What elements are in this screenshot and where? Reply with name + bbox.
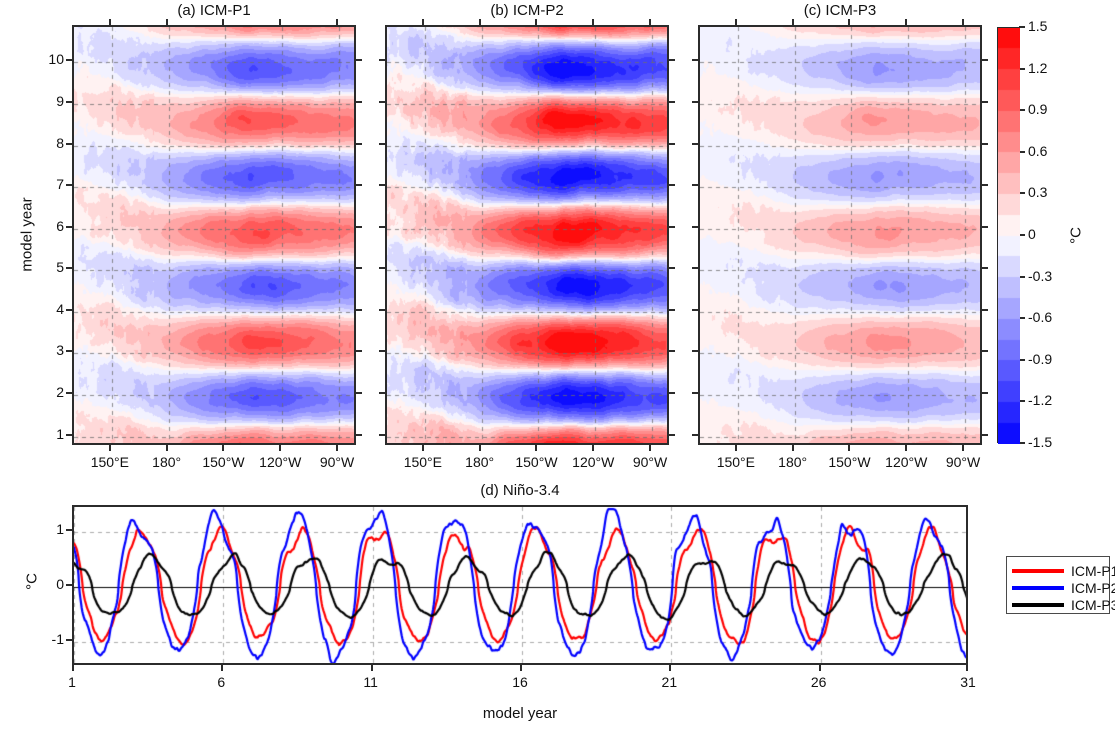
panel-b-ytick <box>379 434 385 436</box>
panel-b-xtick <box>592 19 594 25</box>
panel-b-ytick <box>379 184 385 186</box>
panel-b-ytick <box>379 350 385 352</box>
colorbar-tick-label: -0.3 <box>1028 268 1074 284</box>
panel-a-ytick <box>356 350 362 352</box>
hovmoller-ytick-label: 5 <box>22 259 64 275</box>
nino-ytick-label: -1 <box>24 631 64 647</box>
nino-xtick <box>819 665 821 671</box>
panel-a-xtick-label: 90°W <box>297 454 377 470</box>
legend-label-icm-p3: ICM-P3 <box>1071 597 1115 613</box>
panel-c-contour-canvas <box>700 27 982 445</box>
panel-b-xtick <box>422 445 424 451</box>
nino-xtick <box>669 665 671 671</box>
panel-c-ytick <box>692 392 698 394</box>
panel-b-title: (b) ICM-P2 <box>385 2 669 19</box>
panel-a-ytick <box>356 309 362 311</box>
panel-c-ytick <box>692 309 698 311</box>
panel-c-xtick <box>792 19 794 25</box>
panel-b-ytick <box>669 59 675 61</box>
panel-a-ytick <box>66 143 72 145</box>
panel-b-ytick <box>669 392 675 394</box>
panel-c-hovmoller <box>698 25 982 445</box>
colorbar-tick-label: 0.9 <box>1028 101 1074 117</box>
colorbar-tick-label: 0.3 <box>1028 184 1074 200</box>
panel-c-ytick <box>692 226 698 228</box>
nino-ytick-label: 1 <box>24 521 64 537</box>
hovmoller-ytick-label: 3 <box>22 342 64 358</box>
panel-a-ytick <box>66 101 72 103</box>
panel-b-ytick <box>379 101 385 103</box>
panel-c-ytick <box>982 59 988 61</box>
panel-a-ytick <box>66 226 72 228</box>
nino-xtick-label: 1 <box>32 674 112 690</box>
panel-c-ytick <box>982 184 988 186</box>
panel-c-xtick <box>792 445 794 451</box>
legend-swatch-icm-p1 <box>1012 569 1064 573</box>
panel-d-nino34-timeseries <box>72 505 968 665</box>
nino34-line-canvas <box>74 507 968 665</box>
panel-b-hovmoller <box>385 25 669 445</box>
panel-c-xtick <box>735 445 737 451</box>
legend-entry-icm-p3: ICM-P3 <box>1012 597 1115 613</box>
panel-a-xtick <box>222 445 224 451</box>
panel-b-ytick <box>379 309 385 311</box>
panel-c-ytick <box>982 143 988 145</box>
nino-xtick-label: 26 <box>779 674 859 690</box>
panel-a-ytick <box>356 184 362 186</box>
colorbar-tick-label: -0.6 <box>1028 309 1074 325</box>
panel-b-xtick <box>535 445 537 451</box>
panel-c-ytick <box>692 184 698 186</box>
panel-a-ytick <box>356 101 362 103</box>
panel-c-ytick <box>982 309 988 311</box>
nino-xlabel: model year <box>72 705 968 722</box>
nino-xtick <box>72 665 74 671</box>
legend-entry-icm-p1: ICM-P1 <box>1012 563 1115 579</box>
panel-a-hovmoller <box>72 25 356 445</box>
colorbar-tick-label: -0.9 <box>1028 351 1074 367</box>
panel-a-ytick <box>356 59 362 61</box>
panel-c-ytick <box>692 350 698 352</box>
panel-c-ytick <box>692 434 698 436</box>
panel-b-ytick <box>379 59 385 61</box>
panel-b-ytick <box>379 392 385 394</box>
panel-c-ytick <box>692 267 698 269</box>
hovmoller-ytick-label: 6 <box>22 218 64 234</box>
colorbar <box>997 27 1019 443</box>
hovmoller-ytick-label: 4 <box>22 301 64 317</box>
panel-a-xtick <box>279 445 281 451</box>
panel-c-ytick <box>982 267 988 269</box>
nino-xtick <box>966 665 968 671</box>
panel-c-title: (c) ICM-P3 <box>698 2 982 19</box>
panel-c-xtick <box>905 19 907 25</box>
panel-c-ytick <box>982 350 988 352</box>
colorbar-tick-label: 0.6 <box>1028 143 1074 159</box>
legend-label-icm-p2: ICM-P2 <box>1071 580 1115 596</box>
panel-b-ytick <box>379 267 385 269</box>
nino-xtick-label: 11 <box>331 674 411 690</box>
panel-b-ytick <box>379 143 385 145</box>
nino-xtick <box>371 665 373 671</box>
panel-b-xtick <box>649 19 651 25</box>
panel-a-ytick <box>66 350 72 352</box>
panel-a-ytick <box>66 392 72 394</box>
panel-c-xtick <box>735 19 737 25</box>
nino-xtick-label: 31 <box>928 674 1008 690</box>
colorbar-tick-label: 1.2 <box>1028 60 1074 76</box>
panel-c-xtick <box>962 445 964 451</box>
panel-a-ytick <box>356 226 362 228</box>
nino-xtick <box>520 665 522 671</box>
nino-xtick <box>221 665 223 671</box>
panel-a-ytick <box>66 434 72 436</box>
legend-label-icm-p1: ICM-P1 <box>1071 563 1115 579</box>
panel-b-xtick <box>422 19 424 25</box>
colorbar-gradient <box>998 28 1020 444</box>
legend-swatch-icm-p2 <box>1012 586 1064 590</box>
panel-a-xtick <box>166 19 168 25</box>
panel-a-ytick <box>66 309 72 311</box>
colorbar-tick-label: -1.2 <box>1028 392 1074 408</box>
panel-b-ytick <box>379 226 385 228</box>
panel-b-ytick <box>669 226 675 228</box>
panel-a-xtick <box>109 445 111 451</box>
hovmoller-ytick-label: 7 <box>22 176 64 192</box>
nino-xtick-label: 21 <box>629 674 709 690</box>
panel-c-ytick <box>982 101 988 103</box>
panel-b-ytick <box>669 350 675 352</box>
panel-c-ytick <box>692 101 698 103</box>
panel-b-ytick <box>669 101 675 103</box>
hovmoller-ytick-label: 9 <box>22 93 64 109</box>
panel-a-xtick <box>222 19 224 25</box>
panel-a-xtick <box>336 19 338 25</box>
panel-a-xtick <box>166 445 168 451</box>
colorbar-tick-label: -1.5 <box>1028 434 1074 450</box>
panel-c-xtick <box>848 445 850 451</box>
colorbar-unit-label: °C <box>1068 216 1085 256</box>
panel-a-xtick <box>279 19 281 25</box>
nino-xtick-label: 6 <box>181 674 261 690</box>
legend-swatch-icm-p3 <box>1012 603 1064 607</box>
panel-a-title: (a) ICM-P1 <box>72 2 356 19</box>
legend: ICM-P1 ICM-P2 ICM-P3 <box>1006 556 1110 614</box>
panel-b-ytick <box>669 309 675 311</box>
panel-c-xtick-label: 90°W <box>923 454 1003 470</box>
panel-a-xtick <box>336 445 338 451</box>
panel-c-xtick <box>848 19 850 25</box>
panel-c-ytick <box>692 59 698 61</box>
nino-ylabel: °C <box>24 562 41 602</box>
panel-b-ytick <box>669 143 675 145</box>
panel-b-contour-canvas <box>387 27 669 445</box>
panel-c-ytick <box>692 143 698 145</box>
panel-a-ytick <box>356 267 362 269</box>
panel-a-ytick <box>66 59 72 61</box>
panel-a-ytick <box>356 392 362 394</box>
figure-canvas: (a) ICM-P1 (b) ICM-P2 (c) ICM-P3 model y… <box>0 0 1115 739</box>
panel-b-xtick-label: 90°W <box>610 454 690 470</box>
hovmoller-ytick-label: 8 <box>22 135 64 151</box>
hovmoller-ytick-label: 1 <box>22 426 64 442</box>
hovmoller-ytick-label: 2 <box>22 384 64 400</box>
panel-a-ytick <box>66 267 72 269</box>
nino-xtick-label: 16 <box>480 674 560 690</box>
panel-a-contour-canvas <box>74 27 356 445</box>
panel-c-xtick <box>962 19 964 25</box>
panel-b-ytick <box>669 184 675 186</box>
panel-b-xtick <box>479 445 481 451</box>
panel-a-ytick <box>66 184 72 186</box>
legend-entry-icm-p2: ICM-P2 <box>1012 580 1115 596</box>
panel-b-xtick <box>592 445 594 451</box>
panel-b-xtick <box>479 19 481 25</box>
panel-c-xtick <box>905 445 907 451</box>
panel-b-ytick <box>669 267 675 269</box>
panel-b-xtick <box>535 19 537 25</box>
panel-a-xtick <box>109 19 111 25</box>
panel-b-xtick <box>649 445 651 451</box>
panel-c-ytick <box>982 392 988 394</box>
colorbar-tick-label: 1.5 <box>1028 18 1074 34</box>
panel-a-ytick <box>356 434 362 436</box>
panel-c-ytick <box>982 226 988 228</box>
hovmoller-ytick-label: 10 <box>22 51 64 67</box>
panel-d-title: (d) Niño-3.4 <box>72 482 968 499</box>
panel-a-ytick <box>356 143 362 145</box>
panel-c-ytick <box>982 434 988 436</box>
panel-b-ytick <box>669 434 675 436</box>
